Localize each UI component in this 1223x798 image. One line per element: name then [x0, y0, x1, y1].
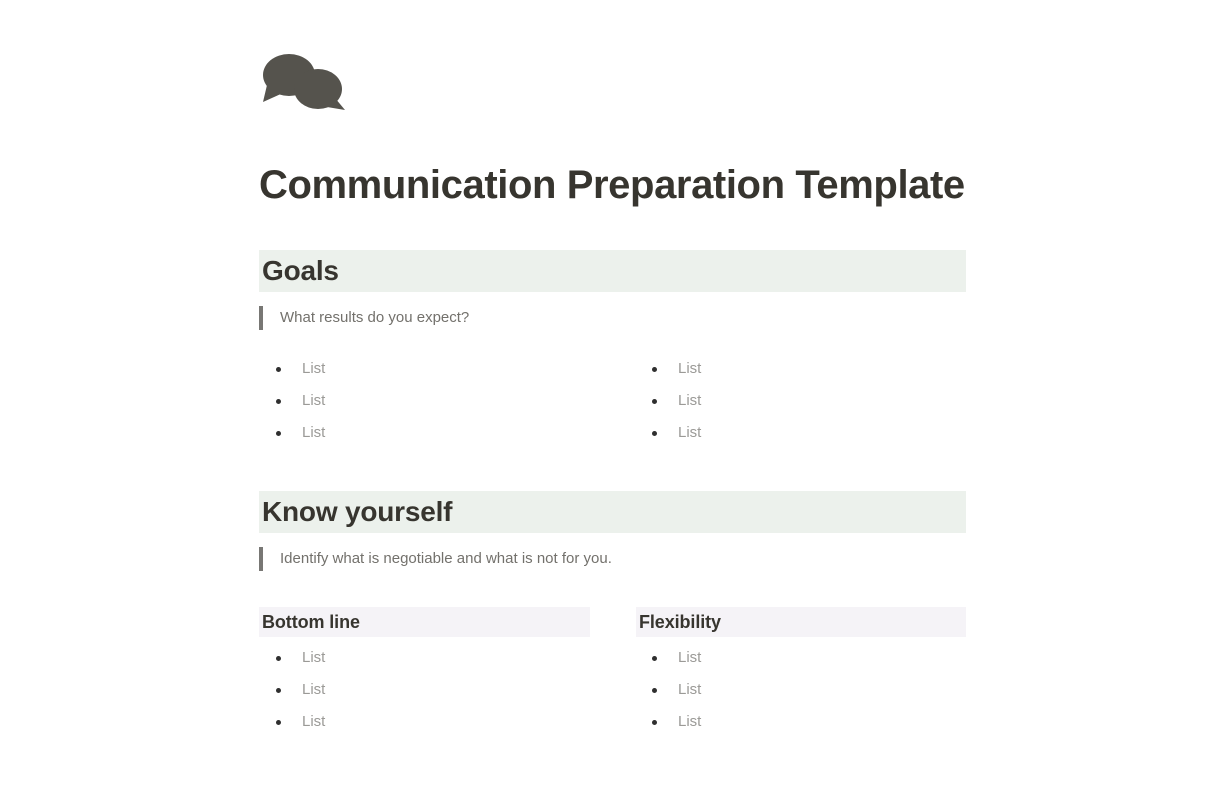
list-item-label: List: [302, 392, 325, 409]
goals-list-right: List List List: [635, 353, 966, 449]
subsection-heading-bottom-line: Bottom line: [259, 607, 590, 637]
document-page: Communication Preparation Template Goals…: [0, 0, 1223, 798]
bullet-icon: [652, 399, 657, 404]
list-item[interactable]: List: [259, 674, 590, 706]
list-item-label: List: [678, 424, 701, 441]
bullet-icon: [276, 431, 281, 436]
know-yourself-columns: List List List List: [259, 642, 966, 738]
bullet-icon: [276, 656, 281, 661]
callout-know-yourself: Identify what is negotiable and what is …: [259, 546, 612, 572]
list-item[interactable]: List: [635, 674, 966, 706]
bottom-line-list: List List List: [259, 642, 590, 738]
list-item-label: List: [302, 649, 325, 666]
bullet-icon: [652, 688, 657, 693]
list-item-label: List: [678, 392, 701, 409]
subsection-heading-flexibility: Flexibility: [636, 607, 966, 637]
callout-goals: What results do you expect?: [259, 305, 469, 331]
subsection-band-flexibility: Flexibility: [636, 607, 966, 637]
list-item[interactable]: List: [259, 385, 590, 417]
list-item[interactable]: List: [635, 417, 966, 449]
section-heading-goals: Goals: [259, 250, 966, 292]
goals-columns: List List List List: [259, 353, 966, 449]
list-item-label: List: [678, 713, 701, 730]
bullet-icon: [276, 688, 281, 693]
list-item[interactable]: List: [635, 642, 966, 674]
flexibility-list: List List List: [635, 642, 966, 738]
goals-list-left: List List List: [259, 353, 590, 449]
speech-bubbles-icon[interactable]: [259, 52, 351, 114]
bullet-icon: [276, 399, 281, 404]
bottom-line-column: List List List: [259, 642, 590, 738]
bullet-icon: [652, 656, 657, 661]
list-item[interactable]: List: [259, 642, 590, 674]
list-item[interactable]: List: [259, 417, 590, 449]
list-item-label: List: [678, 360, 701, 377]
bullet-icon: [276, 720, 281, 725]
list-item-label: List: [678, 681, 701, 698]
list-item-label: List: [302, 360, 325, 377]
bullet-icon: [652, 367, 657, 372]
page-title: Communication Preparation Template: [259, 158, 965, 212]
goals-column-left: List List List: [259, 353, 590, 449]
bullet-icon: [276, 367, 281, 372]
list-item[interactable]: List: [259, 353, 590, 385]
flexibility-column: List List List: [635, 642, 966, 738]
list-item[interactable]: List: [259, 706, 590, 738]
list-item[interactable]: List: [635, 385, 966, 417]
list-item-label: List: [302, 424, 325, 441]
subsection-band-bottom-line: Bottom line: [259, 607, 590, 637]
bullet-icon: [652, 431, 657, 436]
goals-column-right: List List List: [635, 353, 966, 449]
list-item-label: List: [678, 649, 701, 666]
section-heading-know-yourself: Know yourself: [259, 491, 966, 533]
callout-text-goals: What results do you expect?: [263, 305, 469, 331]
list-item-label: List: [302, 713, 325, 730]
section-band-know-yourself: Know yourself: [259, 491, 966, 533]
list-item-label: List: [302, 681, 325, 698]
callout-text-know-yourself: Identify what is negotiable and what is …: [263, 546, 612, 572]
list-item[interactable]: List: [635, 706, 966, 738]
bullet-icon: [652, 720, 657, 725]
section-band-goals: Goals: [259, 250, 966, 292]
list-item[interactable]: List: [635, 353, 966, 385]
